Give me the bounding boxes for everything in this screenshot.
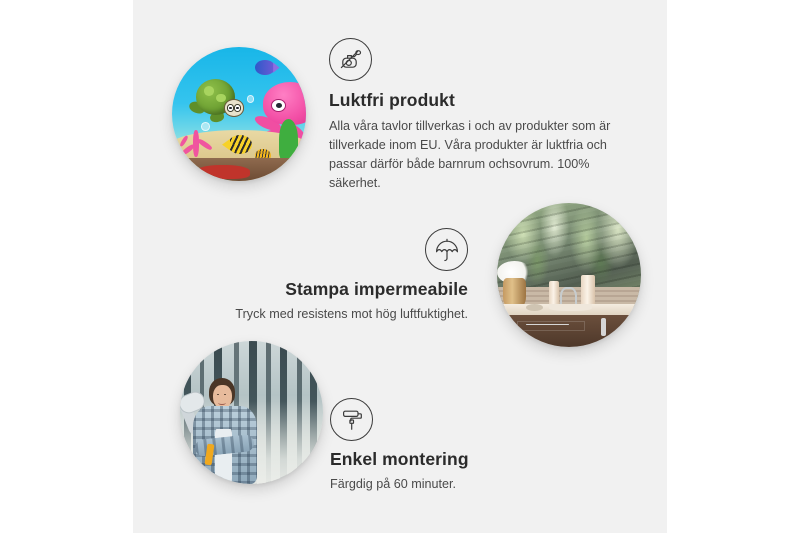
paint-roller-icon <box>330 398 373 441</box>
octopus-head <box>263 82 306 125</box>
eye <box>217 394 219 395</box>
image-forest-painter <box>180 341 323 484</box>
feature-title: Luktfri produkt <box>329 90 629 111</box>
smile <box>218 400 226 405</box>
turtle-head <box>224 99 244 116</box>
umbrella-icon <box>425 228 468 271</box>
feature-body: Färgdig på 60 minuter. <box>330 475 580 494</box>
image-bathroom <box>497 203 641 347</box>
woman-painter <box>189 378 269 484</box>
forest-artwork <box>180 341 323 484</box>
icon-container <box>215 228 468 271</box>
turtle-eye <box>227 104 234 111</box>
no-spray-bottle-icon <box>329 38 372 81</box>
feature-body: Alla våra tavlor tillverkas i och av pro… <box>329 117 629 194</box>
bathroom-artwork <box>497 203 641 347</box>
feature-odourless: Luktfri produkt Alla våra tavlor tillver… <box>329 38 629 194</box>
bottle <box>581 275 595 307</box>
eye <box>224 394 226 395</box>
ocean-artwork <box>172 47 306 181</box>
sink <box>549 304 592 311</box>
feature-body: Tryck med resistens mot hög luftfuktighe… <box>215 305 468 324</box>
cabinet-handle <box>601 318 606 335</box>
feature-easy-mounting: Enkel montering Färgdig på 60 minuter. <box>330 398 580 494</box>
turtle-eye <box>234 104 241 111</box>
soap-dish <box>526 304 543 311</box>
octopus-eye <box>271 99 286 112</box>
feature-waterproof: Stampa impermeabile Tryck med resistens … <box>215 228 468 324</box>
seaweed <box>279 119 298 159</box>
bottle <box>549 281 559 307</box>
coral <box>177 122 217 157</box>
image-ocean <box>172 47 306 181</box>
wooden-vanity <box>506 315 641 347</box>
cabinet-handle <box>632 318 637 335</box>
bubble-dot <box>247 95 254 102</box>
drawer-handle <box>526 324 569 325</box>
sea-turtle <box>188 79 242 123</box>
feature-title: Enkel montering <box>330 449 580 470</box>
screenshot-canvas: Luktfri produkt Alla våra tavlor tillver… <box>0 0 800 533</box>
ocean-floor <box>172 158 306 181</box>
feature-title: Stampa impermeabile <box>215 279 468 300</box>
